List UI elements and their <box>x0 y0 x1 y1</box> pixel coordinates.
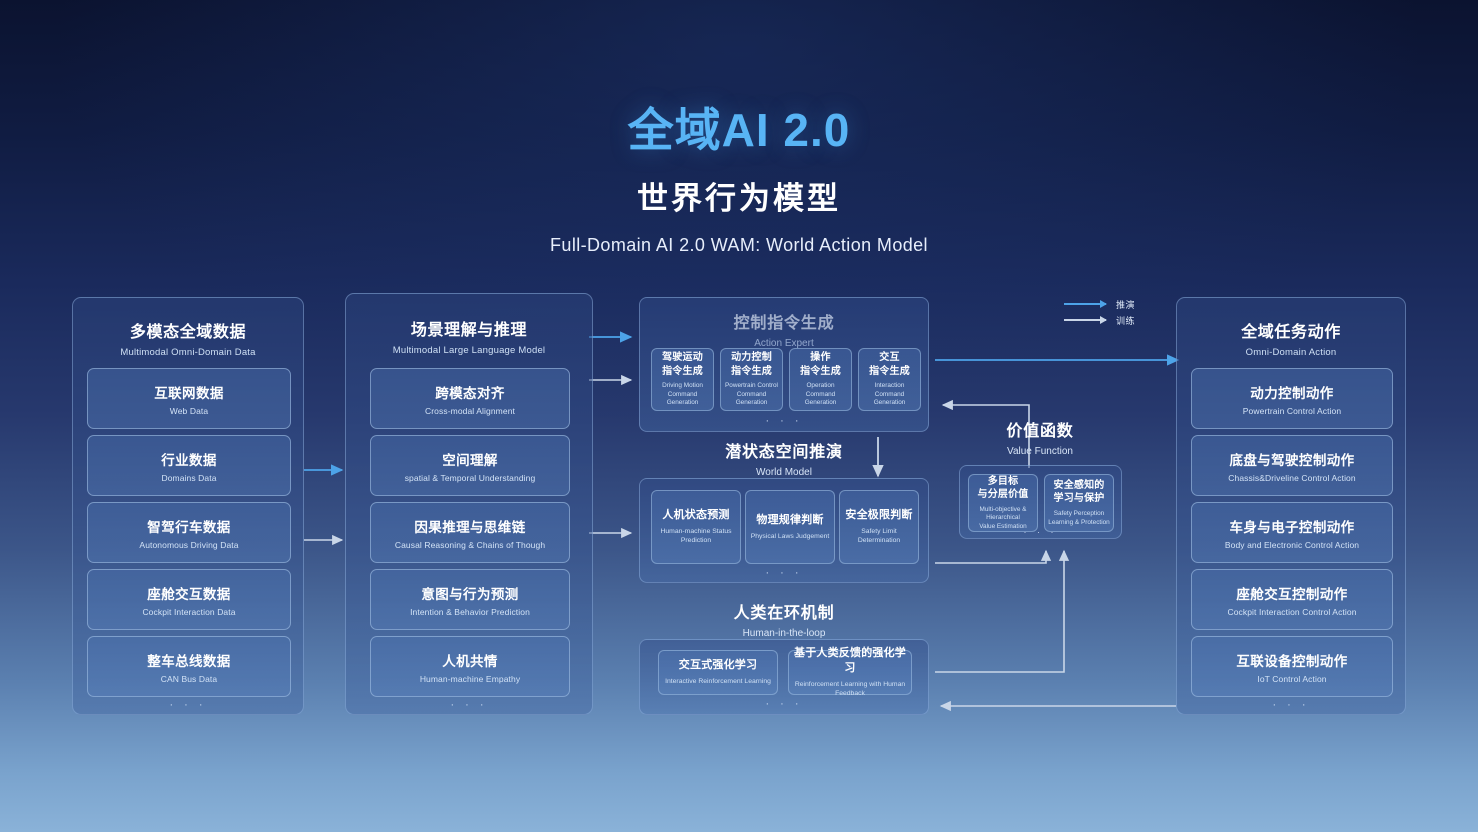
card-title-en: Powertrain Control Action <box>1243 406 1341 416</box>
hitl-title-en: Human-in-the-loop <box>633 628 935 639</box>
card-title-en: Cockpit Interaction Control Action <box>1227 607 1356 617</box>
column-action-title-en: Omni-Domain Action <box>1177 347 1405 358</box>
card-cockpit-interaction-control-action[interactable]: 座舱交互控制动作 Cockpit Interaction Control Act… <box>1191 569 1393 630</box>
card-title-en: Physical Laws Judgement <box>751 532 830 541</box>
card-title-en: spatial & Temporal Understanding <box>405 473 536 483</box>
value-function-header: 价值函数 Value Function <box>960 417 1120 457</box>
card-web-data[interactable]: 互联网数据 Web Data <box>87 368 291 429</box>
card-title-zh: 交互式强化学习 <box>679 658 757 673</box>
card-title-zh: 多目标与分层价值 <box>978 475 1029 502</box>
training-arrow-icon <box>1064 319 1106 321</box>
card-title-zh: 驾驶运动指令生成 <box>662 351 703 378</box>
card-title-en: Human-machine Status Prediction <box>655 527 737 545</box>
card-title-en: Domains Data <box>161 473 216 483</box>
human-in-the-loop-panel: 交互式强化学习 Interactive Reinforcement Learni… <box>639 639 929 715</box>
column-reasoning: 场景理解与推理 Multimodal Large Language Model … <box>345 293 593 715</box>
card-title-zh: 车身与电子控制动作 <box>1229 516 1354 536</box>
hitl-more-dots: · · · <box>640 699 928 710</box>
card-title-en: Causal Reasoning & Chains of Though <box>395 540 545 550</box>
card-human-machine-empathy[interactable]: 人机共情 Human-machine Empathy <box>370 636 570 697</box>
card-title-zh: 意图与行为预测 <box>421 583 518 603</box>
card-title-en: Human-machine Empathy <box>420 674 520 684</box>
card-title-en: Driving MotionCommand Generation <box>655 382 710 408</box>
card-title-zh: 互联网数据 <box>154 382 224 402</box>
column-reasoning-header: 场景理解与推理 Multimodal Large Language Model <box>346 316 592 356</box>
architecture-diagram: 推演 训练 多模态全域数据 Multimodal Omni-Domain Dat… <box>0 0 1478 832</box>
inference-arrow-icon <box>1064 303 1106 305</box>
card-operation-command[interactable]: 操作指令生成 OperationCommand Generation <box>789 348 852 411</box>
card-human-machine-status-prediction[interactable]: 人机状态预测 Human-machine Status Prediction <box>651 490 741 564</box>
card-title-zh: 物理规律判断 <box>756 513 823 528</box>
column-data: 多模态全域数据 Multimodal Omni-Domain Data 互联网数… <box>72 297 304 715</box>
card-title-en: Interactive Reinforcement Learning <box>665 677 771 686</box>
card-title-zh: 互联设备控制动作 <box>1236 650 1347 670</box>
card-interaction-command[interactable]: 交互指令生成 InteractionCommand Generation <box>858 348 921 411</box>
card-title-zh: 座舱交互数据 <box>147 583 230 603</box>
card-multi-objective-value[interactable]: 多目标与分层价值 Multi-objective & HierarchicalV… <box>968 474 1038 532</box>
card-title-zh: 动力控制动作 <box>1250 382 1333 402</box>
value-function-more-dots: · · · <box>960 528 1121 537</box>
world-model-more-dots: · · · <box>640 568 928 579</box>
human-in-the-loop-header: 人类在环机制 Human-in-the-loop <box>633 599 935 639</box>
card-spatial-temporal-understanding[interactable]: 空间理解 spatial & Temporal Understanding <box>370 435 570 496</box>
card-title-zh: 基于人类反馈的强化学习 <box>792 646 908 676</box>
column-action-more-dots: · · · <box>1177 700 1405 711</box>
card-title-zh: 因果推理与思维链 <box>414 516 525 536</box>
card-title-en: Intention & Behavior Prediction <box>410 607 530 617</box>
card-rl-human-feedback[interactable]: 基于人类反馈的强化学习 Reinforcement Learning with … <box>788 650 912 695</box>
action-expert-panel: 驾驶运动指令生成 Driving MotionCommand Generatio… <box>639 297 929 432</box>
legend-item-training: 训练 <box>1064 312 1135 328</box>
legend-label-training: 训练 <box>1116 314 1135 327</box>
card-safety-limit-determination[interactable]: 安全极限判断 Safety Limit Determination <box>839 490 919 564</box>
column-action-title-zh: 全域任务动作 <box>1177 318 1405 342</box>
legend-label-inference: 推演 <box>1116 298 1135 311</box>
legend: 推演 训练 <box>1064 296 1135 328</box>
column-data-more-dots: · · · <box>73 700 303 711</box>
card-powertrain-control-command[interactable]: 动力控制指令生成 Powertrain ControlCommand Gener… <box>720 348 783 411</box>
card-title-en: Cockpit Interaction Data <box>142 607 235 617</box>
card-title-en: IoT Control Action <box>1257 674 1326 684</box>
card-title-zh: 底盘与驾驶控制动作 <box>1229 449 1354 469</box>
card-causal-reasoning[interactable]: 因果推理与思维链 Causal Reasoning & Chains of Th… <box>370 502 570 563</box>
card-title-en: Powertrain ControlCommand Generation <box>724 382 779 408</box>
card-title-en: Body and Electronic Control Action <box>1225 540 1359 550</box>
card-title-zh: 操作指令生成 <box>800 351 841 378</box>
card-title-zh: 人机共情 <box>442 650 498 670</box>
card-title-zh: 安全感知的学习与保护 <box>1054 479 1105 506</box>
card-title-zh: 动力控制指令生成 <box>731 351 772 378</box>
world-model-panel: 人机状态预测 Human-machine Status Prediction 物… <box>639 478 929 583</box>
card-title-zh: 安全极限判断 <box>845 508 912 523</box>
card-domains-data[interactable]: 行业数据 Domains Data <box>87 435 291 496</box>
card-title-en: OperationCommand Generation <box>793 382 848 408</box>
value-function-title-zh: 价值函数 <box>960 417 1120 441</box>
value-function-title-en: Value Function <box>960 446 1120 457</box>
action-expert-more-dots: · · · <box>640 416 928 427</box>
card-title-en: Web Data <box>170 406 208 416</box>
card-title-zh: 交互指令生成 <box>869 351 910 378</box>
column-reasoning-more-dots: · · · <box>346 700 592 711</box>
card-title-en: Autonomous Driving Data <box>139 540 238 550</box>
card-chassis-driveline-control-action[interactable]: 底盘与驾驶控制动作 Chassis&Driveline Control Acti… <box>1191 435 1393 496</box>
card-can-bus-data[interactable]: 整车总线数据 CAN Bus Data <box>87 636 291 697</box>
card-cross-modal-alignment[interactable]: 跨模态对齐 Cross-modal Alignment <box>370 368 570 429</box>
card-title-en: Safety Limit Determination <box>843 527 915 545</box>
column-data-title-zh: 多模态全域数据 <box>73 318 303 342</box>
value-function-panel: 多目标与分层价值 Multi-objective & HierarchicalV… <box>959 465 1122 539</box>
card-title-zh: 行业数据 <box>161 449 217 469</box>
hitl-title-zh: 人类在环机制 <box>633 599 935 623</box>
card-title-zh: 空间理解 <box>442 449 498 469</box>
card-title-zh: 座舱交互控制动作 <box>1236 583 1347 603</box>
world-model-title-en: World Model <box>633 467 935 478</box>
card-title-en: Reinforcement Learning with Human Feedba… <box>792 680 908 698</box>
column-action-header: 全域任务动作 Omni-Domain Action <box>1177 318 1405 358</box>
card-title-en: Cross-modal Alignment <box>425 406 515 416</box>
world-model-title-zh: 潜状态空间推演 <box>633 438 935 462</box>
card-intention-behavior-prediction[interactable]: 意图与行为预测 Intention & Behavior Prediction <box>370 569 570 630</box>
column-reasoning-title-zh: 场景理解与推理 <box>346 316 592 340</box>
card-driving-motion-command[interactable]: 驾驶运动指令生成 Driving MotionCommand Generatio… <box>651 348 714 411</box>
card-cockpit-interaction-data[interactable]: 座舱交互数据 Cockpit Interaction Data <box>87 569 291 630</box>
card-body-electronic-control-action[interactable]: 车身与电子控制动作 Body and Electronic Control Ac… <box>1191 502 1393 563</box>
card-safety-perception-learning[interactable]: 安全感知的学习与保护 Safety PerceptionLearning & P… <box>1044 474 1114 532</box>
card-title-zh: 智驾行车数据 <box>147 516 230 536</box>
world-model-header: 潜状态空间推演 World Model <box>633 438 935 478</box>
card-powertrain-control-action[interactable]: 动力控制动作 Powertrain Control Action <box>1191 368 1393 429</box>
card-title-en: CAN Bus Data <box>161 674 217 684</box>
card-title-en: Safety PerceptionLearning & Protection <box>1048 510 1109 527</box>
card-interactive-reinforcement-learning[interactable]: 交互式强化学习 Interactive Reinforcement Learni… <box>658 650 778 695</box>
column-data-header: 多模态全域数据 Multimodal Omni-Domain Data <box>73 318 303 358</box>
card-title-en: InteractionCommand Generation <box>862 382 917 408</box>
card-title-zh: 跨模态对齐 <box>435 382 505 402</box>
card-title-zh: 人机状态预测 <box>662 508 729 523</box>
card-autonomous-driving-data[interactable]: 智驾行车数据 Autonomous Driving Data <box>87 502 291 563</box>
column-reasoning-title-en: Multimodal Large Language Model <box>346 345 592 356</box>
legend-item-inference: 推演 <box>1064 296 1135 312</box>
card-physical-laws-judgement[interactable]: 物理规律判断 Physical Laws Judgement <box>745 490 835 564</box>
card-iot-control-action[interactable]: 互联设备控制动作 IoT Control Action <box>1191 636 1393 697</box>
card-title-zh: 整车总线数据 <box>147 650 230 670</box>
card-title-en: Chassis&Driveline Control Action <box>1228 473 1355 483</box>
column-action: 全域任务动作 Omni-Domain Action 动力控制动作 Powertr… <box>1176 297 1406 715</box>
column-data-title-en: Multimodal Omni-Domain Data <box>73 347 303 358</box>
